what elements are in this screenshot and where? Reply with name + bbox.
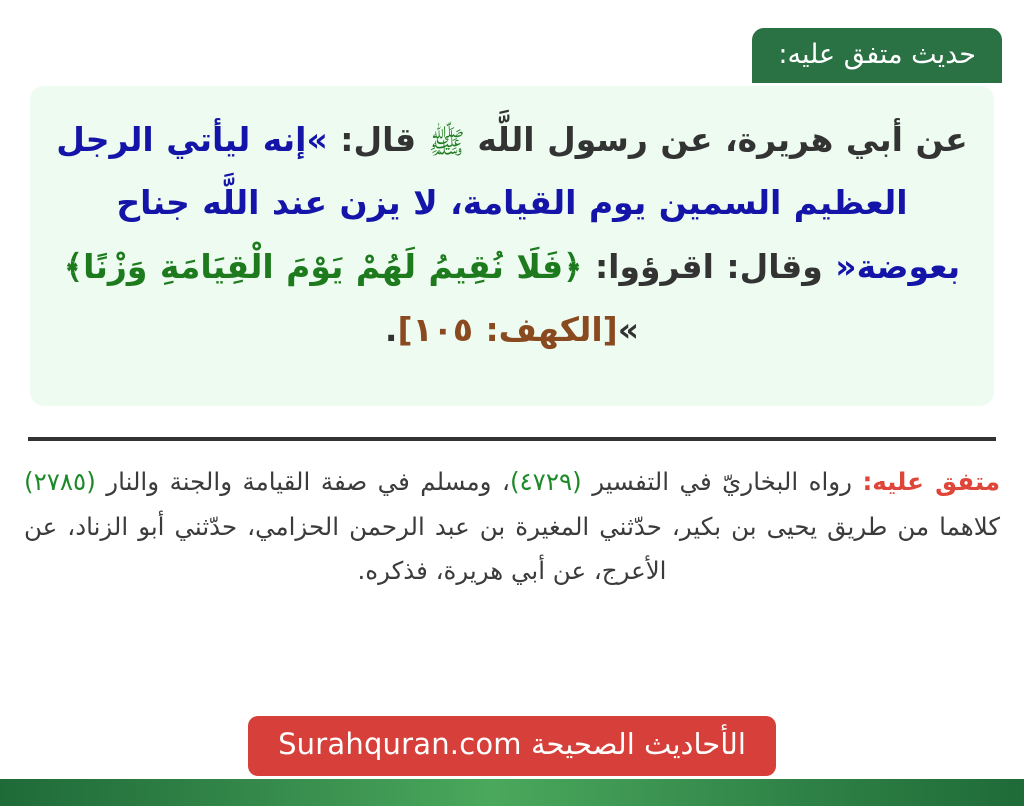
- section-divider: [28, 437, 996, 441]
- footer-brand-bar[interactable]: الأحاديث الصحيحة Surahquran.com: [248, 716, 776, 776]
- hadith-card-page: حديث متفق عليه: عن أبي هريرة، عن رسول ال…: [0, 0, 1024, 806]
- hadith-quote-close-outer: »: [618, 310, 639, 349]
- quran-verse-text: فَلَا نُقِيمُ لَهُمْ يَوْمَ الْقِيَامَةِ…: [83, 247, 563, 286]
- quran-bracket-open: ﴿: [563, 247, 582, 286]
- source-segment-bukhari: رواه البخاريّ في التفسير: [592, 467, 852, 496]
- hadith-quote-open: »: [306, 120, 327, 159]
- source-segment-muslim: ، ومسلم في صفة القيامة والجنة والنار: [106, 467, 510, 496]
- footer-banner: الأحاديث الصحيحة Surahquran.com: [0, 716, 1024, 776]
- salla-allahu-alayhi-wasallam-icon: ﷺ: [429, 115, 465, 173]
- muslim-hadith-number: (٢٧٨٥): [24, 467, 96, 496]
- hadith-text: عن أبي هريرة، عن رسول اللَّه ﷺ قال: »إنه…: [56, 108, 968, 361]
- bukhari-hadith-number: (٤٧٢٩): [510, 467, 582, 496]
- hadith-and-said-label: وقال: اقرؤوا:: [595, 247, 823, 286]
- footer-site-name[interactable]: Surahquran.com: [278, 726, 522, 764]
- footer-collection-label: الأحاديث الصحيحة: [531, 727, 746, 761]
- hadith-quote-close: «: [835, 247, 856, 286]
- header-badge-row: حديث متفق عليه:: [0, 28, 1024, 86]
- hadith-text-box: عن أبي هريرة، عن رسول اللَّه ﷺ قال: »إنه…: [30, 86, 994, 406]
- hadith-end-period: .: [385, 310, 398, 349]
- hadith-said-label: قال:: [340, 120, 416, 159]
- bottom-green-strip: [0, 779, 1024, 806]
- surah-reference: [الكهف: ١٠٥]: [397, 310, 617, 349]
- hadith-narrator-intro: عن أبي هريرة، عن رسول اللَّه: [477, 120, 967, 159]
- quran-bracket-close: ﴾: [64, 247, 83, 286]
- source-attribution-paragraph: متفق عليه: رواه البخاريّ في التفسير (٤٧٢…: [24, 460, 1000, 594]
- source-segment-chain: كلاهما من طريق يحيى بن بكير، حدّثني المغ…: [24, 512, 1000, 586]
- source-grade-label: متفق عليه:: [862, 467, 1000, 496]
- hadith-grade-badge: حديث متفق عليه:: [752, 28, 1002, 83]
